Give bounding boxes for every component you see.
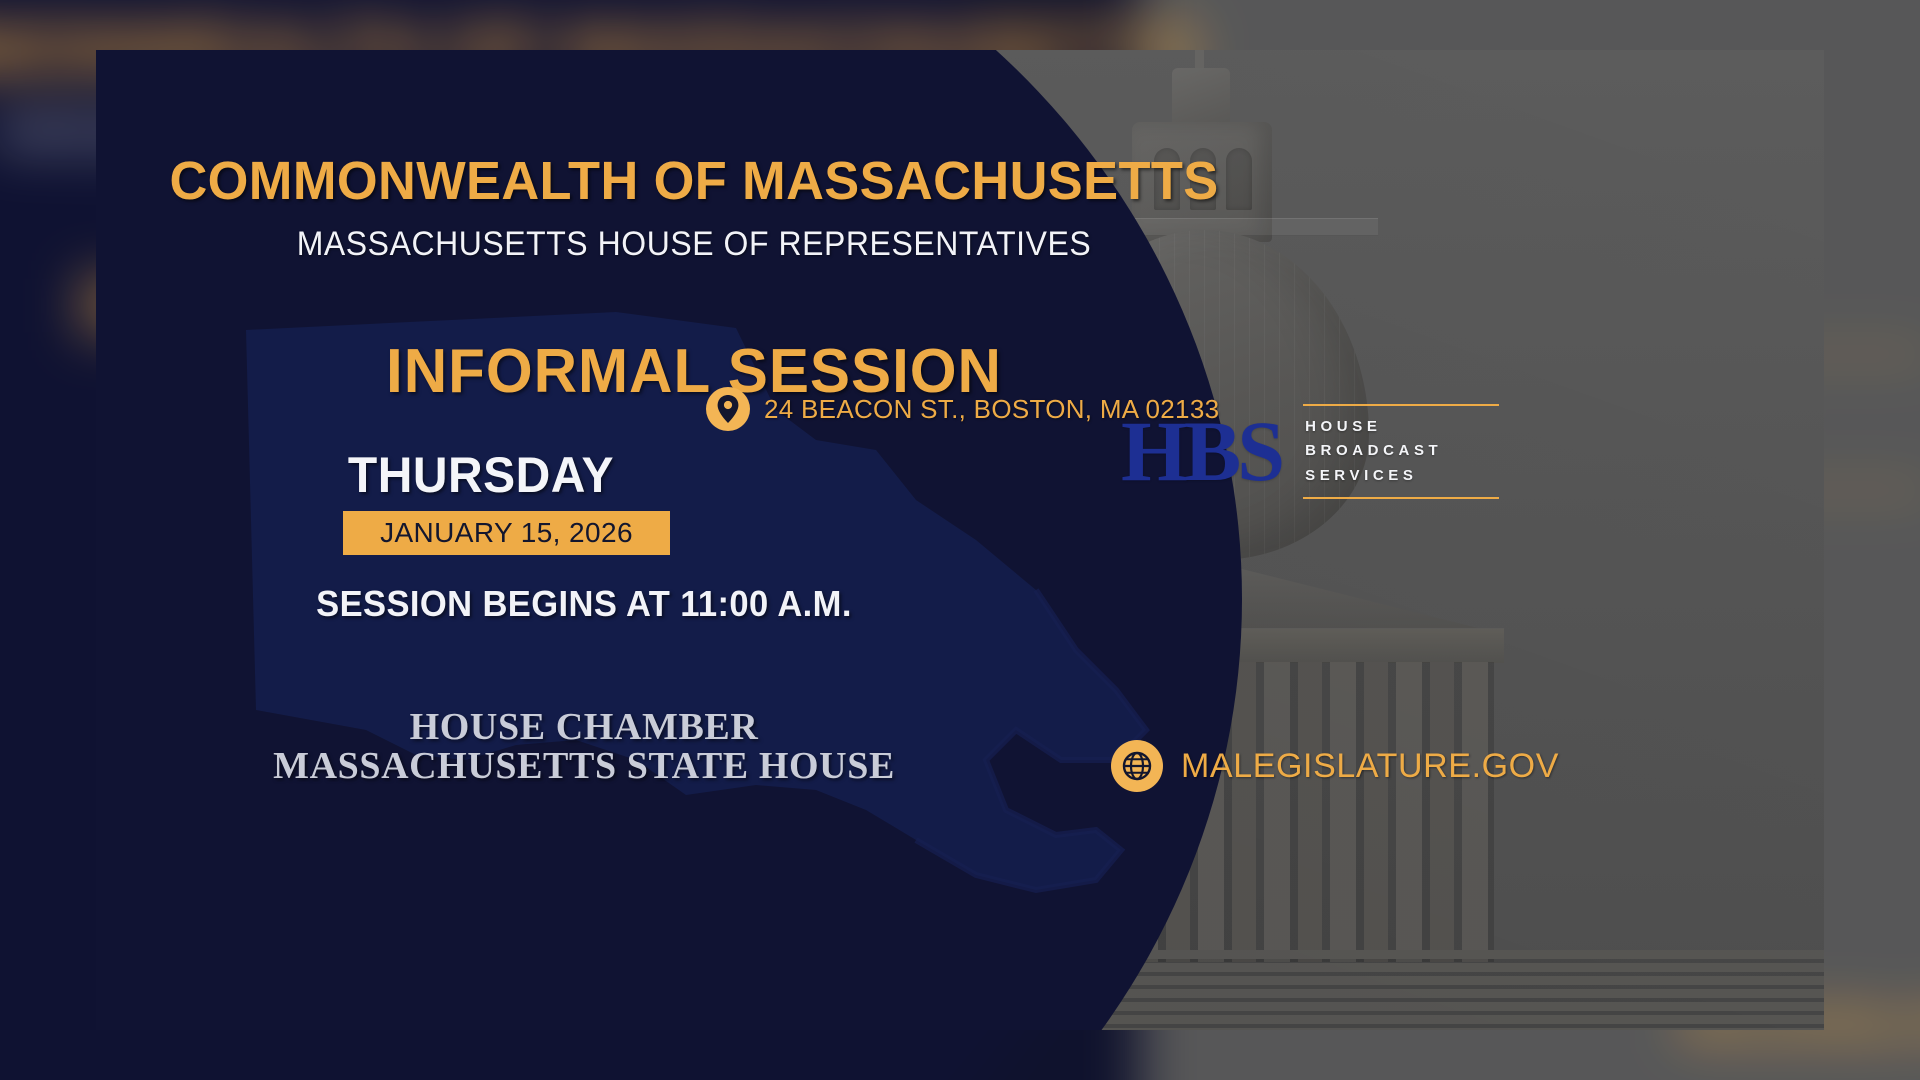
map-pin-icon bbox=[706, 387, 750, 431]
page-title: COMMONWEALTH OF MASSACHUSETTS bbox=[151, 150, 1237, 212]
hbs-word-house: HOUSE bbox=[1305, 415, 1497, 439]
venue-line-chamber: HOUSE CHAMBER bbox=[134, 708, 1034, 747]
start-time-text: SESSION BEGINS AT 11:00 A.M. bbox=[152, 583, 1016, 625]
hbs-word-broadcast: BROADCAST bbox=[1305, 439, 1497, 463]
slide-canvas: COMMONWEALTH OF MASSACHUSETTS MASSACHUSE… bbox=[0, 0, 1920, 1080]
hbs-logo: HBS HOUSE BROADCAST SERVICES bbox=[1121, 398, 1499, 505]
website-url: MALEGISLATURE.GOV bbox=[1181, 747, 1559, 786]
globe-icon bbox=[1111, 740, 1163, 792]
event-card: COMMONWEALTH OF MASSACHUSETTS MASSACHUSE… bbox=[96, 50, 1824, 1030]
day-of-week: THURSDAY bbox=[255, 446, 706, 504]
page-subtitle: MASSACHUSETTS HOUSE OF REPRESENTATIVES bbox=[168, 225, 1221, 264]
venue-line-building: MASSACHUSETTS STATE HOUSE bbox=[134, 747, 1034, 786]
hbs-monogram: HBS bbox=[1121, 408, 1281, 494]
hbs-rule-bottom bbox=[1303, 497, 1499, 499]
hbs-word-services: SERVICES bbox=[1305, 464, 1497, 488]
card-content: COMMONWEALTH OF MASSACHUSETTS MASSACHUSE… bbox=[96, 50, 1824, 1030]
website-row[interactable]: MALEGISLATURE.GOV bbox=[1111, 740, 1559, 792]
hbs-words: HOUSE BROADCAST SERVICES bbox=[1303, 406, 1499, 497]
hbs-wordmark: HOUSE BROADCAST SERVICES bbox=[1303, 398, 1499, 505]
date-badge: JANUARY 15, 2026 bbox=[343, 511, 670, 555]
venue-block: HOUSE CHAMBER MASSACHUSETTS STATE HOUSE bbox=[134, 708, 1034, 786]
